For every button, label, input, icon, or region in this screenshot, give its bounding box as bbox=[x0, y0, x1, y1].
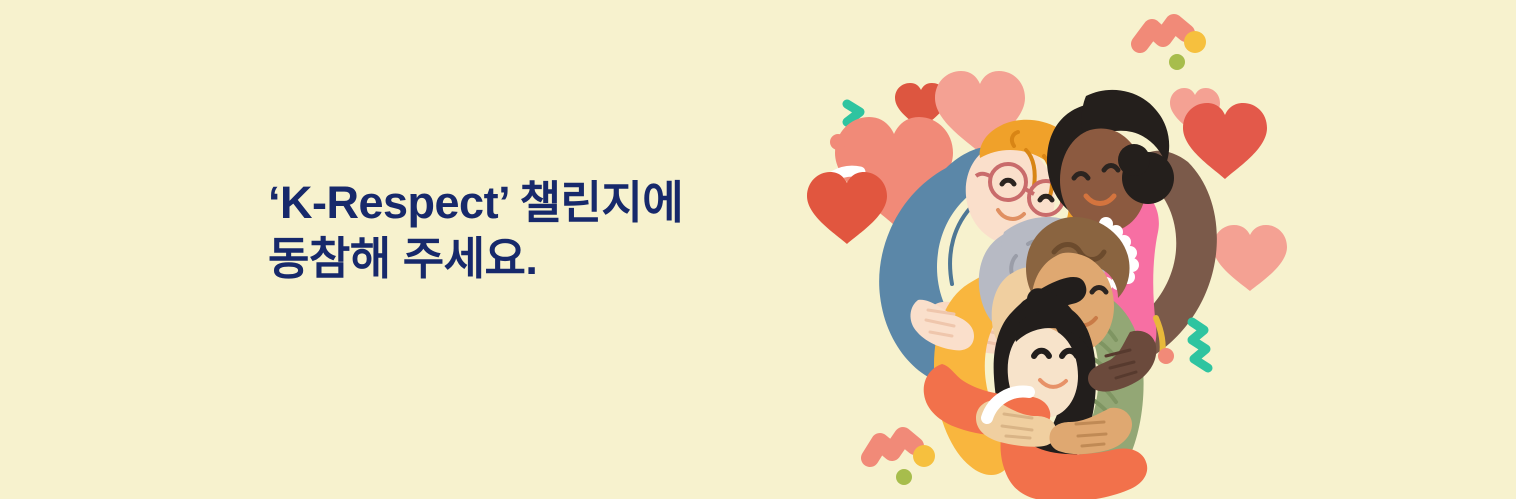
illustration-svg bbox=[800, 0, 1300, 499]
hair-bun-2 bbox=[1118, 144, 1150, 176]
heart-salmon-right-edge bbox=[1213, 225, 1287, 291]
dot-pink-bottom-right bbox=[1158, 348, 1174, 364]
group-hug-heart-illustration bbox=[800, 0, 1300, 499]
campaign-banner: ‘K-Respect’ 챌린지에 동참해 주세요. bbox=[0, 0, 1516, 499]
dot-yellow-top bbox=[1184, 31, 1206, 53]
headline-line-1: ‘K-Respect’ 챌린지에 bbox=[268, 175, 808, 231]
dot-olive-top bbox=[1169, 54, 1185, 70]
squiggle-teal-bottom bbox=[1192, 322, 1208, 368]
heart-red-right bbox=[1183, 103, 1267, 179]
dot-pink-left bbox=[830, 134, 846, 150]
dot-olive-bottom bbox=[896, 469, 912, 485]
blue-shirt-fold bbox=[950, 204, 974, 284]
headline-line-2: 동참해 주세요. bbox=[268, 231, 808, 287]
zigzag-ribbon-salmon-bottom bbox=[870, 436, 915, 458]
zigzag-ribbon-salmon-top bbox=[1140, 23, 1186, 44]
page-title: ‘K-Respect’ 챌린지에 동참해 주세요. bbox=[268, 175, 808, 287]
heart-red-left-mid bbox=[807, 172, 887, 244]
dot-yellow-bottom bbox=[913, 445, 935, 467]
